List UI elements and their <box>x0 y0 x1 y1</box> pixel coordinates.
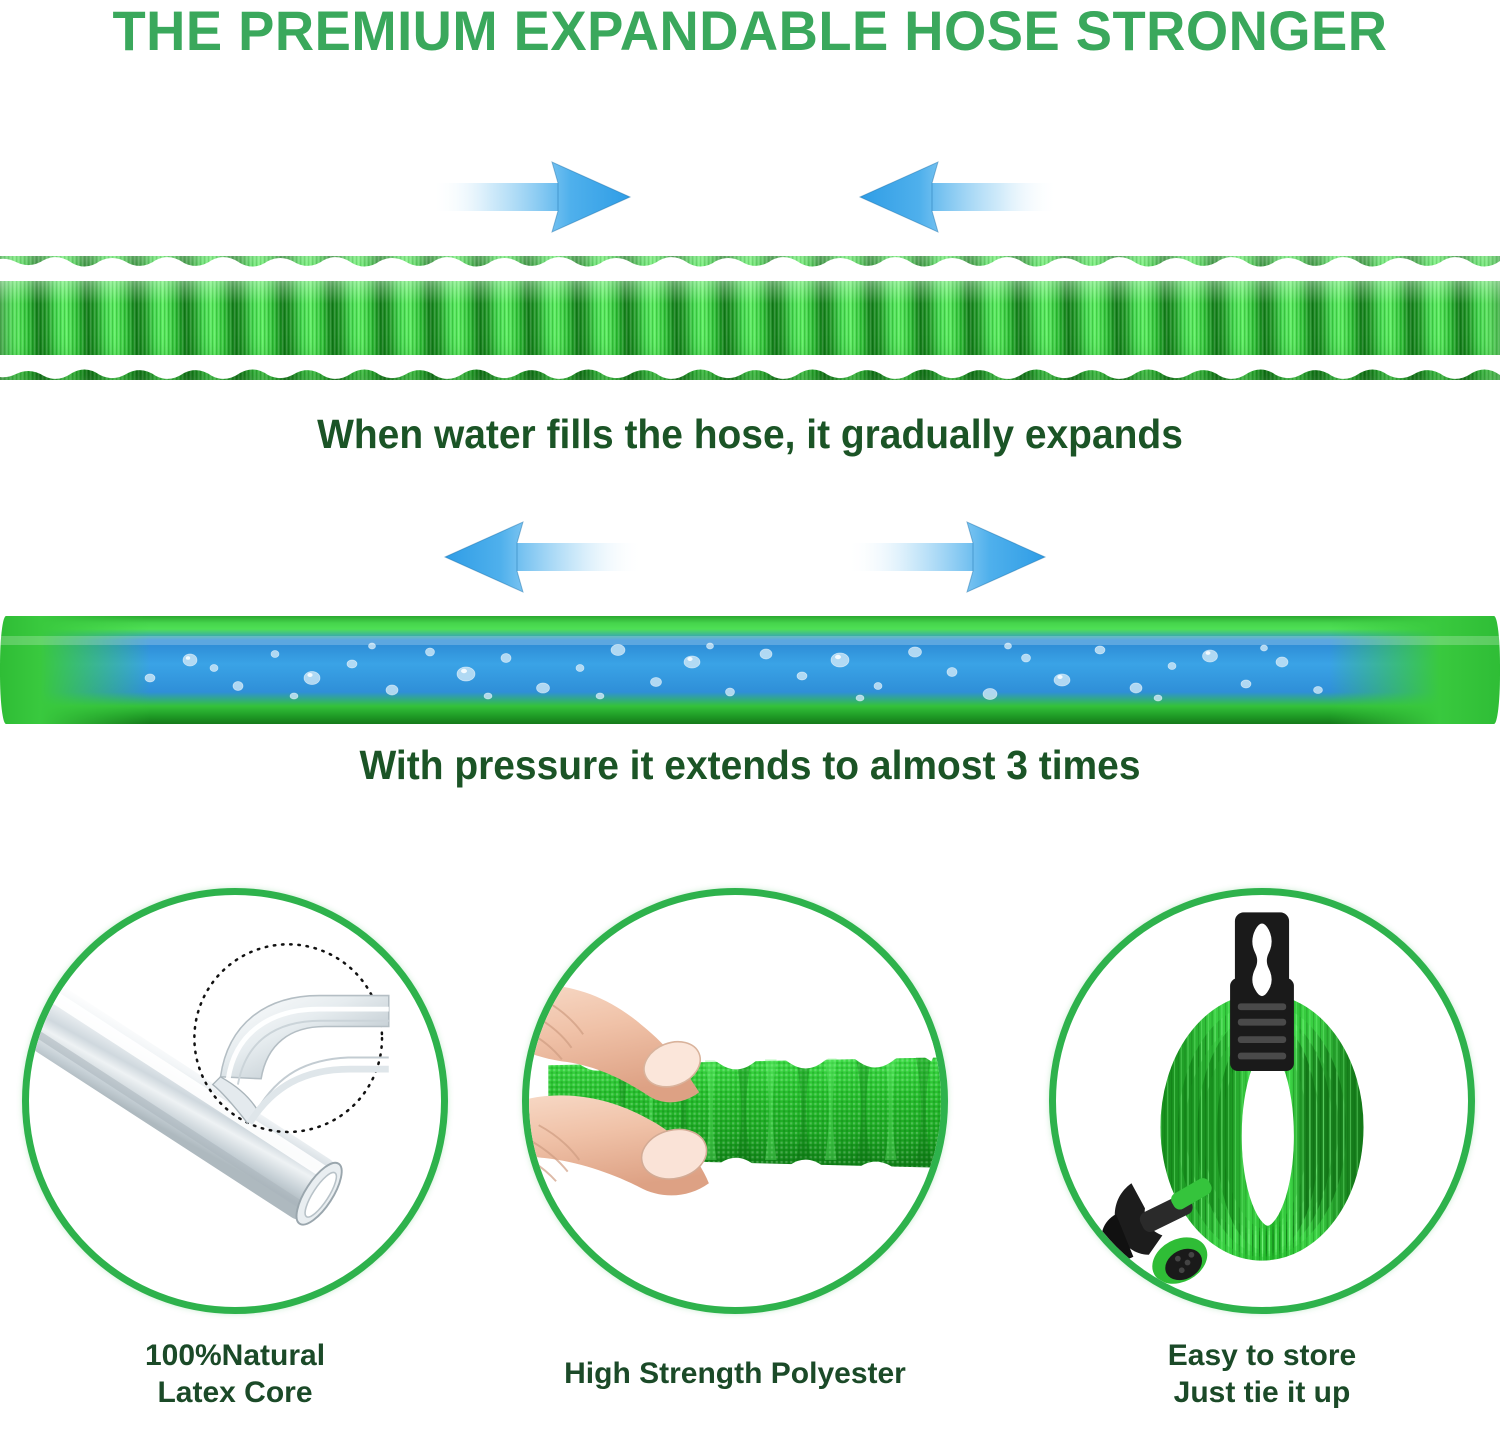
coiled-hose-hanger-image <box>1056 895 1468 1307</box>
water-droplets <box>0 616 1500 724</box>
feature-caption-polyester: High Strength Polyester <box>505 1356 965 1393</box>
arrow-row-expanded <box>0 512 1500 602</box>
hose-expanded-image <box>0 616 1500 724</box>
page-title: THE PREMIUM EXPANDABLE HOSE STRONGER <box>23 2 1478 61</box>
caption-extends-3-times: With pressure it extends to almost 3 tim… <box>38 742 1463 789</box>
caption-water-fills-hose: When water fills the hose, it gradually … <box>38 411 1463 458</box>
feature-circle-latex-core <box>22 888 448 1314</box>
feature-caption-latex-core: 100%Natural Latex Core <box>5 1338 465 1411</box>
feature-caption-easy-store: Easy to store Just tie it up <box>1032 1338 1492 1411</box>
arrow-right-inward-icon <box>430 152 645 242</box>
arrow-left-inward-icon <box>845 152 1060 242</box>
hose-scallop-top <box>0 255 1500 281</box>
feature-circle-easy-store <box>1049 888 1475 1314</box>
hand-holding-hose-image <box>529 895 941 1307</box>
feature-easy-store: Easy to store Just tie it up <box>1032 880 1492 1433</box>
feature-polyester: High Strength Polyester <box>505 880 965 1433</box>
arrow-row-contracted <box>0 152 1500 242</box>
arrow-right-outward-icon <box>845 512 1060 602</box>
feature-circles-row: 100%Natural Latex Core <box>0 880 1500 1433</box>
feature-latex-core: 100%Natural Latex Core <box>5 880 465 1433</box>
hose-scallop-bottom <box>0 355 1500 381</box>
hose-contracted-image <box>0 256 1500 380</box>
feature-circle-polyester <box>522 888 948 1314</box>
arrow-left-outward-icon <box>430 512 645 602</box>
clear-latex-tube-image <box>29 895 441 1307</box>
